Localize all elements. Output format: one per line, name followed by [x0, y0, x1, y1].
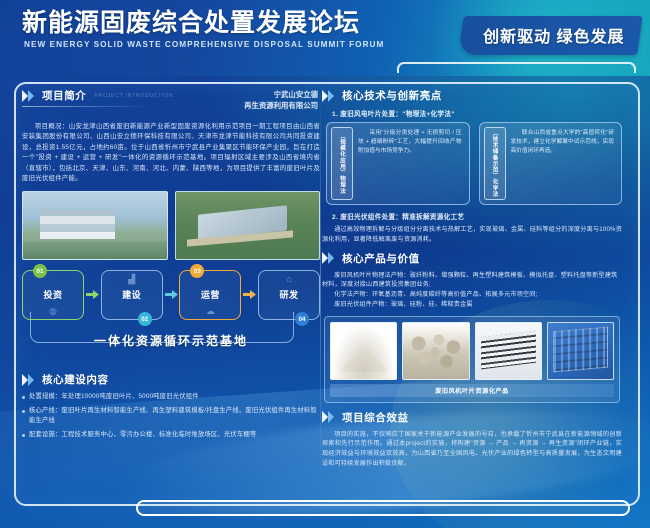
- benefit-paragraph: 项目的实施，不仅响应了国家关于新能源产业发展的号召，也承载了忻州市宁武县在新能源…: [322, 430, 622, 469]
- page-title: 新能源固废综合处置发展论坛: [22, 10, 360, 38]
- tech-card-row: （规模化应用）物理法 采用"分级分类处理 + 无损剪切 / 压块 + 超细粉碎"…: [326, 122, 622, 205]
- flow-step-4-badge: 04: [295, 312, 309, 326]
- product-line-2: 化学法产物：环氧基沥青、高纯度碳纤等高价值产品、拓展多元市场空间;: [322, 290, 622, 300]
- right-column: 核心技术与创新亮点 1. 废旧风电叶片处置："物理法+化学法" （规模化应用）物…: [322, 88, 622, 478]
- left-column: 项目简介 PROJECT INTRODUCTION 宁武山安立德 再生资源利用有…: [22, 88, 320, 478]
- chevron-right-icon: [322, 252, 337, 264]
- flow-step-2-label: 建设: [102, 288, 162, 301]
- photo-row: [22, 191, 320, 260]
- reinforced-granule-product: [402, 322, 469, 380]
- section-header-products: 核心产品与价值: [322, 251, 622, 266]
- product-image-panel: 废旧风机叶片资源化产品: [324, 316, 620, 403]
- page-subtitle-en: NEW ENERGY SOLID WASTE COMPREHENSIVE DIS…: [24, 40, 384, 49]
- flow-step-1-badge: 01: [33, 264, 47, 278]
- product-image-row: [330, 322, 614, 380]
- core-build-block: 核心建设内容 处置规模：年处理10000吨废旧叶片、5000吨废旧光伏组件 核心…: [22, 372, 320, 439]
- factory-aerial-photo: [175, 191, 321, 260]
- tech-card-physical-text: 采用"分级分类处理 + 无损剪切 / 压块 + 超细粉碎"工艺，大幅提升回收产物…: [353, 127, 465, 200]
- bullet-dot-icon: [22, 434, 25, 437]
- flow-step-4-label: 研发: [259, 288, 319, 301]
- tech-item-1-heading: 1. 废旧风电叶片处置："物理法+化学法": [332, 108, 622, 118]
- list-item: 处置规模：年处理10000吨废旧叶片、5000吨废旧光伏组件: [22, 392, 320, 402]
- flow-step-4[interactable]: ⌂ 研发 04: [258, 270, 320, 320]
- bullet-dot-icon: [22, 396, 25, 399]
- flow-caption: 一体化资源循环示范基地: [22, 332, 320, 349]
- slogan-plate: 创新驱动 绿色发展: [458, 16, 643, 55]
- slogan-underline-decor: [397, 62, 636, 73]
- flow-arrow-3: [241, 270, 258, 318]
- company-line-1: 宁武山安立德: [244, 90, 318, 101]
- product-line-1: 废旧风机叶片物理法产物：玻纤粉料、增强颗粒、再生塑料建筑模板、模拟托盘、塑料托盘…: [322, 271, 622, 291]
- tech-item-2-text: 通过高效物理拆解与分级组分分离技术与热解工艺，实现玻璃、金属、硅料等组分的深度分…: [322, 225, 622, 245]
- recycled-plastic-formwork-product: [475, 322, 542, 380]
- chevron-right-icon: [322, 90, 337, 102]
- tech-card-chemical-label: （技术储备示范）化学法: [484, 127, 506, 200]
- core-build-item-2: 核心产线：废旧叶片再生材料智能生产线、再生塑料建筑模板/托盘生产线、废旧光伏组件…: [29, 406, 320, 426]
- tech-card-chemical-text: 联合山西省重点大学的"高值转化"研发技术，建立化学解聚中试示范线，实现高价值闭环…: [506, 127, 618, 200]
- coins-icon: ◍: [23, 306, 83, 317]
- company-line-2: 再生资源利用有限公司: [244, 101, 318, 112]
- section-rule: [22, 106, 150, 107]
- office-building-photo: [22, 191, 168, 260]
- company-name: 宁武山安立德 再生资源利用有限公司: [244, 90, 318, 111]
- product-line-3: 废旧光伏组件产物：玻璃、硅粉、硅、稀释贵金属: [322, 300, 622, 310]
- chart-bar-icon: ▟: [102, 274, 162, 285]
- section-header-core-build: 核心建设内容: [22, 372, 320, 387]
- chevron-right-icon: [22, 90, 37, 102]
- tech-card-chemical: （技术储备示范）化学法 联合山西省重点大学的"高值转化"研发技术，建立化学解聚中…: [479, 122, 623, 205]
- tech-item-2-heading: 2. 废旧光伏组件处置：精准拆解资源化工艺: [332, 211, 622, 221]
- core-build-item-3: 配套设施：工程技术服务中心、零污办公楼、标准化临时堆放场区、光伏车棚等: [29, 430, 256, 440]
- poster-root: 新能源固废综合处置发展论坛 NEW ENERGY SOLID WASTE COM…: [0, 0, 650, 528]
- frame-bottom-bar: [136, 500, 630, 516]
- flow-step-2-badge: 02: [138, 312, 152, 326]
- section-title-core-build: 核心建设内容: [42, 372, 109, 387]
- flow-step-3[interactable]: 03 运营 ☁: [179, 270, 241, 320]
- product-caption: 废旧风机叶片资源化产品: [330, 384, 614, 397]
- bullet-dot-icon: [22, 410, 25, 413]
- flow-arrow-2: [163, 270, 180, 318]
- section-header-benefit: 项目综合效益: [322, 410, 622, 425]
- flow-step-1-label: 投资: [23, 288, 83, 301]
- home-icon: ⌂: [259, 274, 319, 284]
- flow-step-3-badge: 03: [190, 264, 204, 278]
- glass-fiber-powder-product: [330, 322, 397, 380]
- flow-step-2[interactable]: ▟ 建设 02: [101, 270, 163, 320]
- section-title-tech: 核心技术与创新亮点: [342, 88, 442, 103]
- cloud-icon: ☁: [180, 306, 240, 317]
- section-header-tech: 核心技术与创新亮点: [322, 88, 622, 103]
- list-item: 配套设施：工程技术服务中心、零污办公楼、标准化临时堆放场区、光伏车棚等: [22, 430, 320, 440]
- flow-step-3-label: 运营: [180, 288, 240, 301]
- process-flow-diagram: 01 投资 ◍ ▟ 建设 02 03 运营 ☁: [22, 270, 320, 332]
- column-divider: [320, 92, 321, 474]
- chevron-right-icon: [322, 411, 337, 423]
- core-build-item-1: 处置规模：年处理10000吨废旧叶片、5000吨废旧光伏组件: [29, 392, 199, 402]
- section-title-intro-en: PROJECT INTRODUCTION: [94, 93, 173, 99]
- slogan-badge: 创新驱动 绿色发展: [461, 16, 640, 55]
- intro-paragraph: 项目概况：山安龙津山西省废旧新能源产业新型固废资源化利用示范项目一期工程项目由山…: [22, 122, 320, 184]
- chevron-right-icon: [22, 374, 37, 386]
- tech-card-physical: （规模化应用）物理法 采用"分级分类处理 + 无损剪切 / 压块 + 超细粉碎"…: [326, 122, 470, 205]
- section-title-intro: 项目简介: [42, 88, 86, 103]
- list-item: 核心产线：废旧叶片再生材料智能生产线、再生塑料建筑模板/托盘生产线、废旧光伏组件…: [22, 406, 320, 426]
- slogan-text: 创新驱动 绿色发展: [483, 23, 624, 47]
- section-title-products: 核心产品与价值: [342, 251, 420, 266]
- flow-arrow-1: [84, 270, 101, 318]
- flow-step-1[interactable]: 01 投资 ◍: [22, 270, 84, 320]
- section-title-benefit: 项目综合效益: [342, 410, 409, 425]
- tech-card-physical-label: （规模化应用）物理法: [331, 127, 353, 200]
- plastic-pallet-product: [547, 322, 614, 380]
